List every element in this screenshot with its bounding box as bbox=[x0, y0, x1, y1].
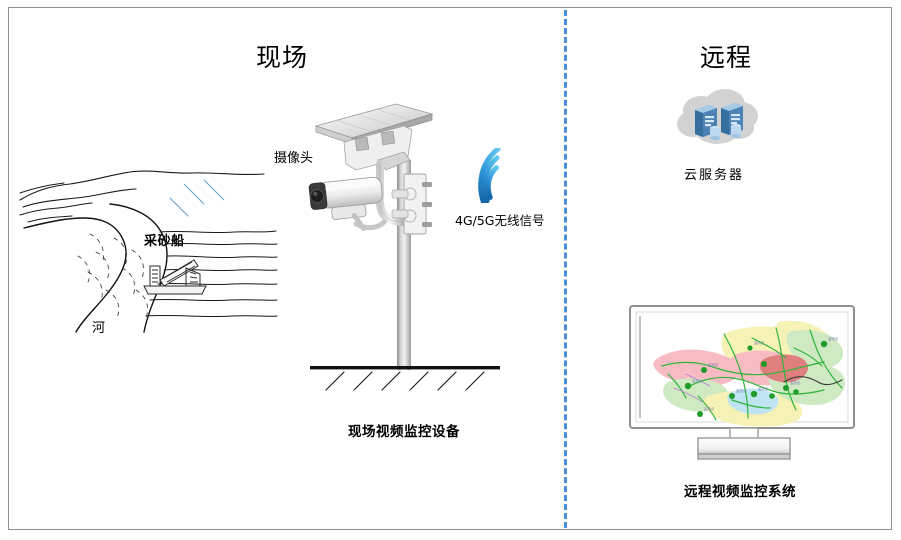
svg-text:监测点: 监测点 bbox=[736, 388, 747, 393]
solar-camera-icon bbox=[300, 98, 440, 258]
svg-text:监测点: 监测点 bbox=[758, 386, 769, 391]
river-label: 河 bbox=[92, 317, 105, 336]
site-device-caption: 现场视频监控设备 bbox=[348, 420, 460, 440]
monitor-gis-map-icon: 监测点 监测点 监测点 监测点 监测点 监测点 监测点 监测点 bbox=[628, 304, 856, 464]
panel-divider bbox=[564, 10, 567, 528]
dredger-label: 采砂船 bbox=[144, 230, 185, 249]
svg-text:监测点: 监测点 bbox=[790, 380, 801, 385]
diagram-canvas: 现场 远程 bbox=[0, 0, 901, 540]
svg-text:监测点: 监测点 bbox=[828, 336, 839, 341]
wireless-signal-label: 4G/5G无线信号 bbox=[455, 210, 545, 229]
svg-text:监测点: 监测点 bbox=[708, 362, 719, 367]
cloud-server-icon bbox=[673, 86, 763, 152]
cloud-server-label: 云服务器 bbox=[684, 164, 744, 183]
svg-text:监测点: 监测点 bbox=[704, 406, 715, 411]
svg-text:监测点: 监测点 bbox=[754, 340, 765, 345]
wifi-signal-icon bbox=[470, 148, 525, 203]
remote-system-caption: 远程视频监控系统 bbox=[684, 480, 796, 500]
site-panel-title: 现场 bbox=[256, 38, 308, 74]
remote-panel-title: 远程 bbox=[700, 38, 752, 74]
camera-label: 摄像头 bbox=[274, 147, 313, 166]
svg-text:监测点: 监测点 bbox=[692, 378, 703, 383]
